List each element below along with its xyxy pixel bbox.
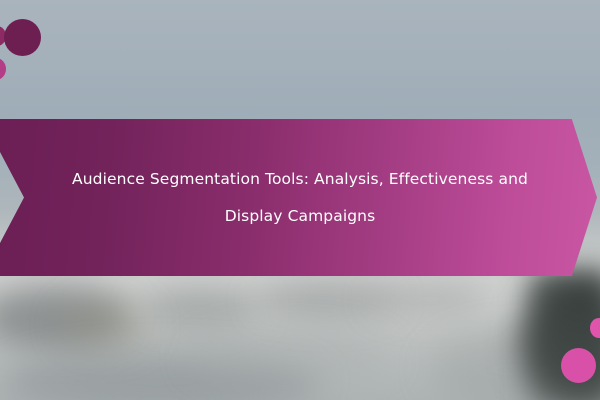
title-slide: Audience Segmentation Tools: Analysis, E…: [0, 0, 600, 400]
background-blur-blob: [140, 288, 260, 328]
title-banner: Audience Segmentation Tools: Analysis, E…: [0, 119, 600, 276]
background-blur-blob: [190, 330, 390, 385]
page-title-line-1: Audience Segmentation Tools: Analysis, E…: [65, 161, 535, 198]
decorative-circle-top-left: [4, 19, 41, 56]
background-dark-corner: [530, 272, 600, 400]
page-title-line-2: Display Campaigns: [65, 198, 535, 235]
decorative-circle-bottom-right: [561, 348, 596, 383]
background-blur-blob: [60, 300, 150, 350]
background-blur-blob: [370, 284, 490, 314]
page-title: Audience Segmentation Tools: Analysis, E…: [65, 161, 535, 235]
